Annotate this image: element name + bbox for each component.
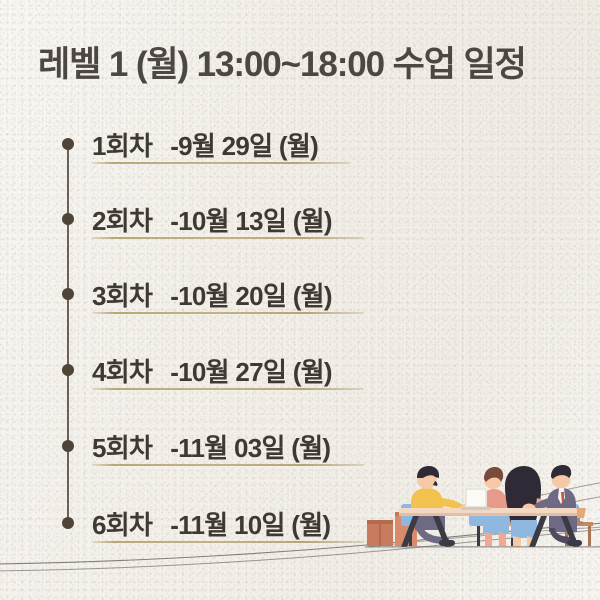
schedule-entry-text: 4회차-10월 27일 (월) (92, 352, 332, 389)
timeline-bullet-icon (62, 440, 74, 452)
entry-underline (92, 464, 364, 466)
session-label: 3회차 (92, 281, 152, 311)
session-label: 5회차 (92, 433, 152, 463)
entry-underline (92, 312, 364, 314)
session-label: 2회차 (92, 206, 152, 236)
timeline-bullet-icon (62, 138, 74, 150)
timeline-bullet-icon (62, 517, 74, 529)
list-item[interactable]: 4회차-10월 27일 (월) (0, 336, 600, 410)
session-label: 4회차 (92, 357, 152, 387)
schedule-entry-text: 3회차-10월 20일 (월) (92, 276, 332, 313)
session-label: 6회차 (92, 510, 152, 540)
meeting-people-illustration (365, 448, 600, 558)
schedule-entry-text: 6회차-11월 10일 (월) (92, 505, 330, 542)
session-date: -10월 27일 (월) (170, 357, 332, 387)
session-date: -11월 10일 (월) (170, 510, 330, 540)
schedule-entry-text: 2회차-10월 13일 (월) (92, 201, 332, 238)
schedule-entry-text: 1회차-9월 29일 (월) (92, 126, 318, 163)
timeline-bullet-icon (62, 364, 74, 376)
entry-underline (92, 237, 364, 239)
schedule-entry-text: 5회차-11월 03일 (월) (92, 428, 330, 465)
illustration-ground-line (365, 546, 600, 548)
session-date: -9월 29일 (월) (170, 131, 318, 161)
session-label: 1회차 (92, 131, 152, 161)
list-item[interactable]: 3회차-10월 20일 (월) (0, 260, 600, 334)
list-item[interactable]: 2회차-10월 13일 (월) (0, 185, 600, 259)
entry-underline (92, 162, 350, 164)
laptop-icon (461, 488, 491, 510)
timeline-bullet-icon (62, 213, 74, 225)
page-title: 레벨 1 (월) 13:00~18:00 수업 일정 (38, 36, 526, 87)
list-item[interactable]: 1회차-9월 29일 (월) (0, 110, 600, 184)
session-date: -11월 03일 (월) (170, 433, 330, 463)
entry-underline (92, 388, 364, 390)
timeline-bullet-icon (62, 288, 74, 300)
session-date: -10월 20일 (월) (170, 281, 332, 311)
entry-underline (92, 541, 364, 543)
session-date: -10월 13일 (월) (170, 206, 332, 236)
